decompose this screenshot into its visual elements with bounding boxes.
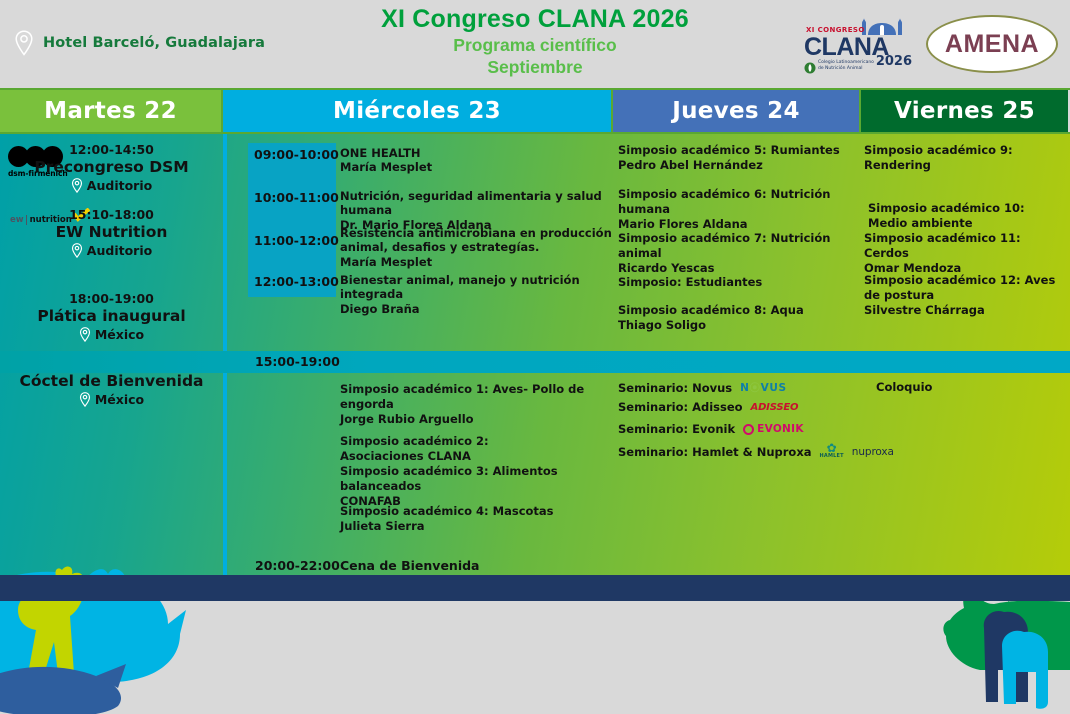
list-item[interactable]: 12:00-14:50 Precongreso DSM Auditorio (0, 142, 223, 193)
list-item[interactable]: Simposio académico 4: Mascotas Julieta S… (340, 504, 615, 534)
event-location: Auditorio (0, 243, 223, 258)
event-title: Simposio académico 1: Aves- Pollo de eng… (340, 382, 615, 412)
event-title: Precongreso DSM (0, 158, 223, 176)
seminar-label: Seminario: Novus (618, 381, 732, 395)
venue-block: Hotel Barceló, Guadalajara (14, 30, 265, 56)
adisseo-logo: ADISSEO (751, 402, 799, 413)
header-logos: XI CONGRESO CLANA Colegio Latinoamerican… (802, 14, 1058, 74)
event-location: México (0, 392, 223, 407)
hamlet-wordmark: HAMLET (820, 453, 844, 459)
event-time: 10:00-11:00 (254, 190, 339, 205)
clover-icon: ✿ (827, 444, 837, 453)
event-time: 12:00-14:50 (0, 142, 223, 157)
event-speaker: Thiago Soligo (618, 318, 861, 333)
event-title: Coloquio (876, 380, 1056, 395)
page-header: Hotel Barceló, Guadalajara XI Congreso C… (0, 0, 1070, 88)
day-header-miercoles-label: Miércoles 23 (333, 98, 501, 124)
list-item[interactable]: 15:10-18:00 EW Nutrition Auditorio (0, 207, 223, 258)
event-speaker: Diego Braña (340, 302, 612, 316)
event-title: Nutrición, seguridad alimentaria y salud… (340, 189, 612, 218)
event-title: Plática inaugural (0, 307, 223, 325)
location-pin-icon (71, 178, 83, 193)
event-location-label: Auditorio (87, 243, 152, 258)
event-title: Cóctel de Bienvenida (0, 372, 223, 390)
event-title: Simposio académico 9: Rendering (864, 143, 1069, 173)
event-title: Cena de Bienvenida (340, 558, 480, 573)
list-item[interactable]: Seminario: Adisseo ADISSEO (618, 400, 798, 414)
list-item[interactable]: 18:00-19:00 Plática inaugural México (0, 291, 223, 342)
hamlet-protein-logo: ✿ HAMLET (820, 444, 844, 459)
list-item[interactable]: Seminario: Novus N⦿VUS (618, 380, 787, 395)
event-speaker: María Mesplet (340, 255, 612, 269)
list-item[interactable]: Simposio académico 8: Aqua Thiago Soligo (618, 303, 861, 333)
event-location-label: México (95, 392, 144, 407)
location-pin-icon (14, 30, 34, 56)
location-pin-icon (79, 392, 91, 407)
event-title: Simposio académico 11: Cerdos (864, 231, 1069, 261)
day-header-jueves-label: Jueves 24 (672, 98, 800, 124)
program-page: Hotel Barceló, Guadalajara XI Congreso C… (0, 0, 1070, 601)
event-title: EW Nutrition (0, 223, 223, 241)
event-speaker: Silvestre Chárraga (864, 303, 1060, 318)
day-header-martes[interactable]: Martes 22 (0, 90, 223, 132)
program-grid: dsm-firmenich ew nutrition 12:00-14:50 P… (0, 134, 1070, 575)
list-item[interactable]: Simposio académico 11: Cerdos Omar Mendo… (864, 231, 1069, 276)
event-title: Simposio académico 7: Nutrición animal (618, 231, 861, 261)
event-title: Simposio: Estudiantes (618, 275, 861, 290)
evonik-ring-icon (743, 424, 754, 435)
list-item[interactable]: Seminario: Hamlet & Nuproxa ✿ HAMLET nup… (618, 444, 894, 459)
event-speaker: María Mesplet (340, 160, 612, 174)
day-header-viernes-label: Viernes 25 (894, 98, 1035, 124)
list-item[interactable]: ONE HEALTH María Mesplet (340, 146, 612, 175)
event-title: ONE HEALTH (340, 146, 612, 160)
event-title: Simposio académico 6: Nutrición humana (618, 187, 861, 217)
event-title: Simposio académico 2: Asociaciones CLANA (340, 434, 615, 464)
novus-logo: N⦿VUS (740, 380, 787, 395)
event-location-label: Auditorio (87, 178, 152, 193)
leaf-icon (804, 59, 816, 71)
event-title: Bienestar animal, manejo y nutrición int… (340, 273, 612, 302)
event-title: Simposio académico 8: Aqua (618, 303, 861, 318)
event-time: 18:00-19:00 (0, 291, 223, 306)
evonik-logo: EVONIK (743, 423, 804, 435)
list-item[interactable]: Simposio académico 7: Nutrición animal R… (618, 231, 861, 276)
event-time: 09:00-10:00 (254, 147, 339, 162)
afternoon-time-label: 15:00-19:00 (255, 354, 340, 369)
clana-logo: XI CONGRESO CLANA Colegio Latinoamerican… (802, 14, 912, 74)
clana-year-label: 2026 (876, 54, 912, 69)
day-header-jueves[interactable]: Jueves 24 (613, 90, 861, 132)
event-location: México (0, 327, 223, 342)
event-speaker: Mario Flores Aldana (618, 217, 861, 232)
seminar-label: Seminario: Hamlet & Nuproxa (618, 445, 812, 459)
event-title: Resistencia antimicrobiana en producción… (340, 226, 612, 255)
page-footer (0, 575, 1070, 601)
list-item[interactable]: Seminario: Evonik EVONIK (618, 422, 804, 436)
venue-label: Hotel Barceló, Guadalajara (43, 35, 265, 51)
afternoon-time-band: 15:00-19:00 (0, 351, 1070, 373)
location-pin-icon (71, 243, 83, 258)
day-header-martes-label: Martes 22 (44, 98, 177, 124)
evonik-wordmark: EVONIK (757, 423, 804, 435)
event-title: Simposio académico 3: Alimentos balancea… (340, 464, 615, 494)
clana-sub-label: Colegio Latinoamericano de Nutrición Ani… (818, 60, 880, 71)
day-header-miercoles[interactable]: Miércoles 23 (223, 90, 613, 132)
day-header-viernes[interactable]: Viernes 25 (861, 90, 1068, 132)
seminar-label: Seminario: Evonik (618, 422, 735, 436)
event-title: Simposio académico 12: Aves de postura (864, 273, 1060, 303)
list-item[interactable]: Simposio académico 3: Alimentos balancea… (340, 464, 615, 509)
nuproxa-logo: nuproxa (852, 446, 894, 458)
event-speaker: Julieta Sierra (340, 519, 615, 534)
list-item[interactable]: Simposio académico 12: Aves de postura S… (864, 273, 1060, 318)
amena-logo: AMENA (926, 15, 1058, 73)
list-item[interactable]: Coloquio (876, 380, 1056, 395)
list-item[interactable]: Resistencia antimicrobiana en producción… (340, 226, 612, 269)
list-item[interactable]: Simposio académico 6: Nutrición humana M… (618, 187, 861, 232)
event-time: 12:00-13:00 (254, 274, 339, 289)
event-location-label: México (95, 327, 144, 342)
event-location: Auditorio (0, 178, 223, 193)
event-time: 15:10-18:00 (0, 207, 223, 222)
event-title: Simposio académico 4: Mascotas (340, 504, 615, 519)
event-time: 20:00-22:00 (255, 558, 340, 573)
day-header-row: Martes 22 Miércoles 23 Jueves 24 Viernes… (0, 88, 1070, 134)
location-pin-icon (79, 327, 91, 342)
event-title: Simposio académico 5: Rumiantes (618, 143, 858, 158)
list-item[interactable]: Simposio académico 5: Rumiantes Pedro Ab… (618, 143, 858, 173)
list-item[interactable]: Bienestar animal, manejo y nutrición int… (340, 273, 612, 316)
amena-wordmark: AMENA (945, 30, 1039, 59)
event-title: Simposio académico 10: Medio ambiente (868, 201, 1068, 231)
list-item[interactable]: Simposio académico 9: Rendering (864, 143, 1069, 173)
event-speaker: Pedro Abel Hernández (618, 158, 858, 173)
seminar-label: Seminario: Adisseo (618, 400, 743, 414)
event-time: 11:00-12:00 (254, 233, 339, 248)
list-item[interactable]: Simposio: Estudiantes (618, 275, 861, 290)
event-speaker: Ricardo Yescas (618, 261, 861, 276)
